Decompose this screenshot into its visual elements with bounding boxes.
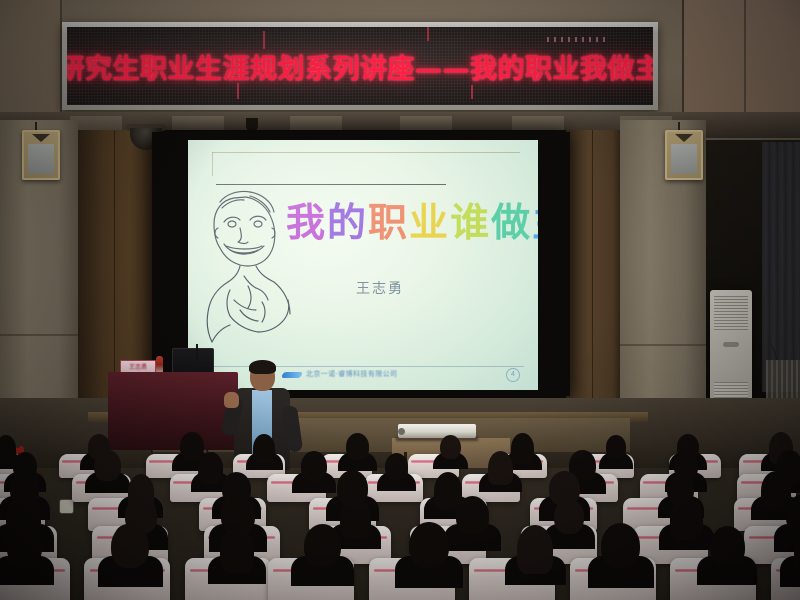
audience-head — [301, 451, 327, 481]
speaker-horn-icon — [675, 134, 693, 142]
audience-head — [606, 435, 626, 459]
slide-title-char: 做 — [491, 192, 532, 248]
wall-seam — [744, 0, 746, 128]
slide-title-char: 职 — [368, 192, 409, 248]
audience-head — [253, 434, 275, 463]
speaker-grille — [28, 144, 54, 174]
upper-wall-panel-right — [682, 0, 800, 122]
audience-head — [304, 524, 341, 567]
wall-speaker-right — [665, 130, 703, 180]
audience-head — [488, 451, 513, 485]
led-banner-text: 研究生职业生涯规划系列讲座——我的职业我做主 — [67, 47, 653, 86]
slide-footer-company: 北京一诺·睿博科技有限公司 — [306, 369, 397, 379]
audience-head — [220, 527, 254, 573]
audience-head — [440, 435, 461, 460]
audience-head — [94, 450, 121, 481]
slide-title-char: 的 — [327, 192, 368, 248]
speaker-grille — [671, 144, 697, 174]
slide-title-char: 主 — [532, 192, 538, 248]
presenter-hair — [249, 360, 276, 374]
slide-title-char: 业 — [409, 192, 450, 248]
audience-head — [385, 453, 408, 480]
slide-title-char: 谁 — [450, 192, 491, 248]
slide-decor-rule — [212, 152, 520, 153]
audience-head — [340, 498, 371, 539]
desk-microphone — [196, 344, 198, 362]
audience-head — [761, 471, 791, 510]
audience-head — [111, 524, 149, 568]
led-pixel-artifact — [471, 85, 473, 99]
audience-head — [554, 499, 584, 534]
projected-slide: 我的职业谁做主 王志勇 北京一诺·睿博科技有限公司 4 — [188, 140, 538, 390]
audience-head — [517, 525, 553, 573]
audience-seating — [0, 430, 800, 600]
audience-head — [511, 433, 534, 463]
slide-page-number: 4 — [506, 368, 520, 382]
audience-head — [7, 526, 42, 567]
led-pixel-artifact — [547, 37, 607, 42]
led-display-panel: 研究生职业生涯规划系列讲座——我的职业我做主 — [67, 27, 653, 105]
slide-decor-rule — [212, 152, 213, 176]
wood-wall-panel-right — [566, 130, 624, 430]
audience-head — [601, 523, 640, 568]
audience-head — [199, 452, 223, 484]
audience-head — [710, 526, 745, 567]
audience-head — [670, 496, 703, 540]
audience-head — [180, 432, 204, 460]
audience-head — [346, 433, 369, 460]
lecture-hall-photo: 研究生职业生涯规划系列讲座——我的职业我做主 — [0, 0, 800, 600]
led-pixel-artifact — [263, 31, 265, 49]
wall-seam — [682, 0, 684, 128]
led-pixel-artifact — [427, 27, 429, 41]
led-pixel-artifact — [237, 83, 239, 99]
led-display-frame: 研究生职业生涯规划系列讲座——我的职业我做主 — [62, 22, 658, 110]
speaker-horn-icon — [32, 134, 50, 142]
upper-wall-panel-left — [0, 0, 60, 126]
presenter-hand — [224, 392, 239, 408]
audience-head — [409, 522, 449, 568]
slide-author: 王志勇 — [356, 278, 404, 298]
audience-head — [456, 496, 489, 535]
slide-title-char: 我 — [286, 192, 327, 248]
slide-title: 我的职业谁做主 — [286, 192, 538, 248]
wall-speaker-left — [22, 130, 60, 180]
